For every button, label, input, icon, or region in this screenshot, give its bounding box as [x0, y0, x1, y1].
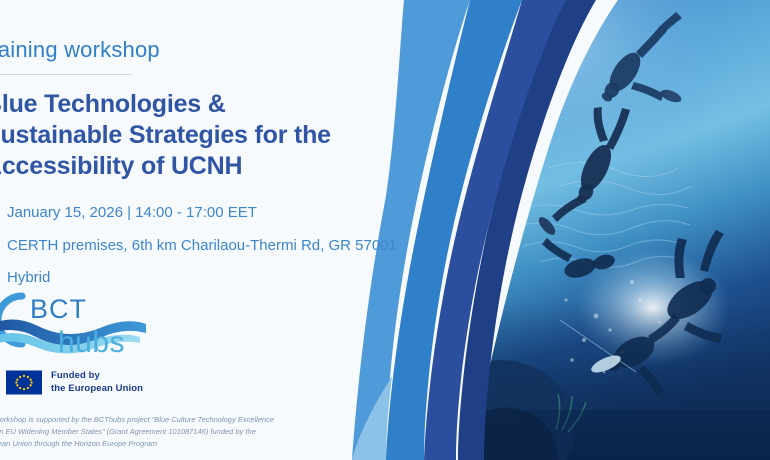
title-line-3: Accessibility of UCNH	[0, 151, 440, 182]
title-line-1: Blue Technologies &	[0, 89, 440, 120]
event-date-text: January 15, 2026 | 14:00 - 17:00 EET	[7, 205, 257, 222]
page-title: Blue Technologies & Sustainable Strategi…	[0, 89, 440, 181]
eyebrow-label: training workshop	[0, 38, 440, 62]
event-date-row: January 15, 2026 | 14:00 - 17:00 EET	[0, 205, 440, 222]
title-line-2: Sustainable Strategies for the	[0, 120, 440, 151]
event-mode-text: Hybrid	[7, 270, 50, 287]
event-location-text: CERTH premises, 6th km Charilaou-Thermi …	[7, 238, 397, 255]
divider-rule	[0, 74, 132, 75]
event-mode-row: Hybrid	[0, 270, 440, 287]
poster-canvas: training workshop Blue Technologies & Su…	[0, 0, 770, 460]
event-location-row: CERTH premises, 6th km Charilaou-Thermi …	[0, 238, 440, 255]
event-details: January 15, 2026 | 14:00 - 17:00 EET CER…	[0, 205, 440, 287]
poster-content: training workshop Blue Technologies & Su…	[0, 0, 440, 460]
